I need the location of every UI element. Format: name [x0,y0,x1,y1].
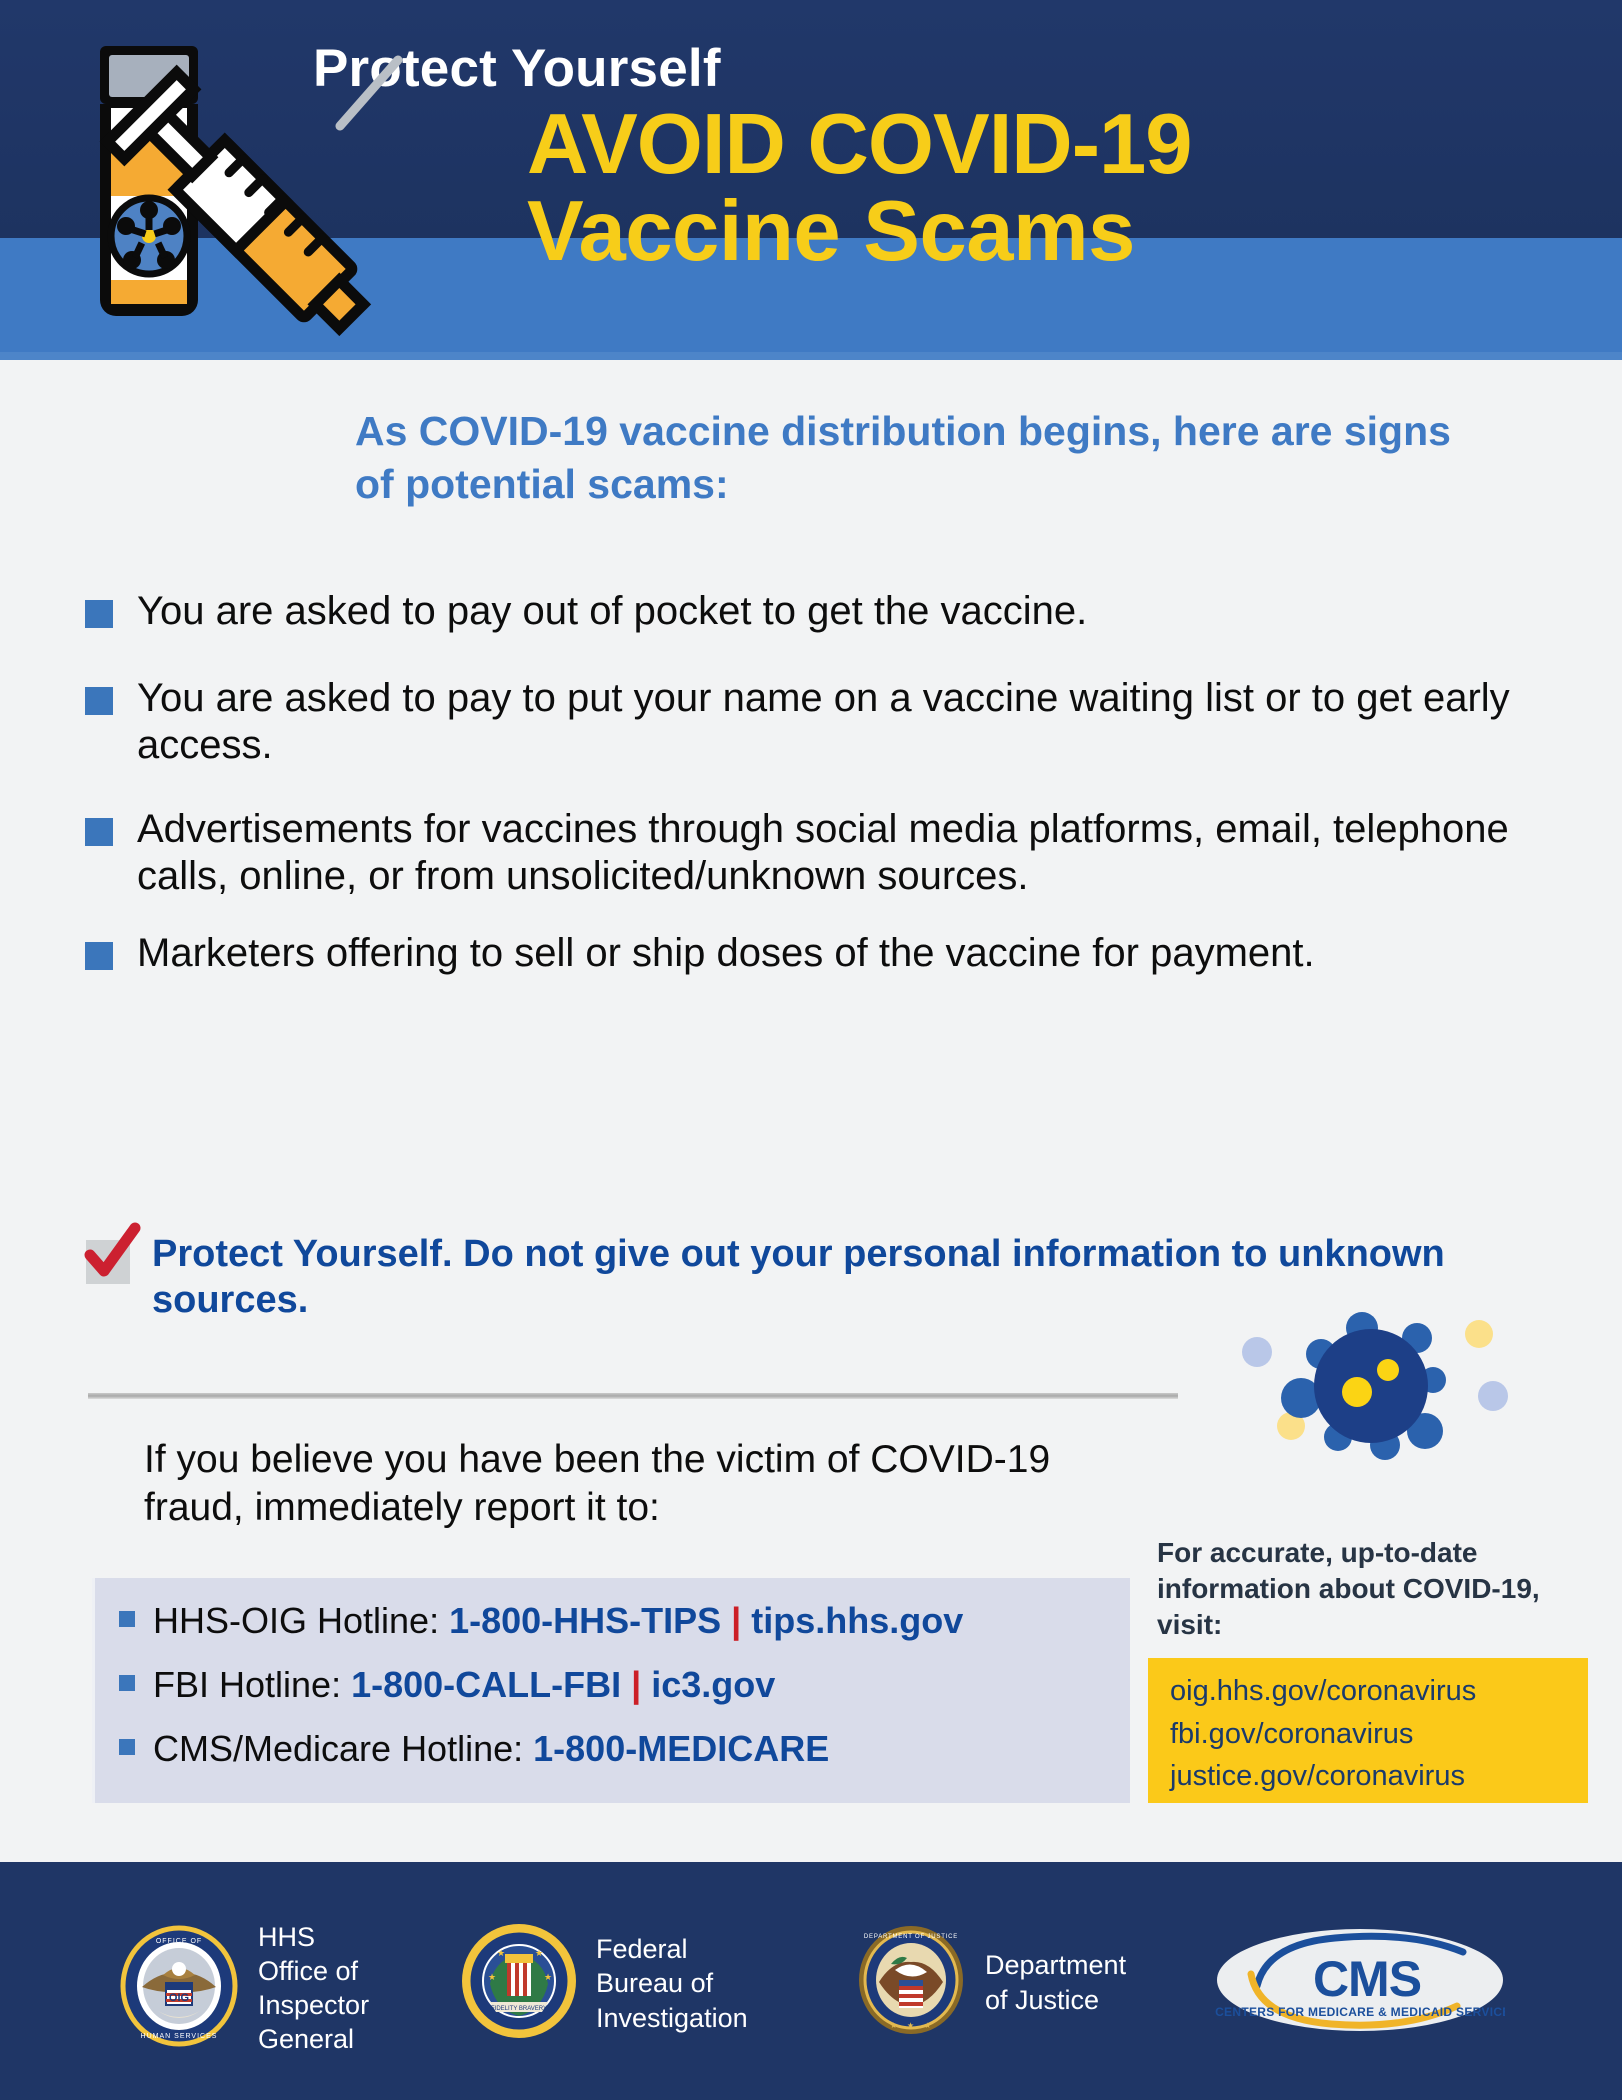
agency-fbi: FIDELITY BRAVERY ★★ ★★ FederalBureau ofI… [460,1922,748,2045]
agency-label: Departmentof Justice [985,1948,1126,2016]
section-divider [88,1393,1178,1399]
hhs-oig-seal-icon: OIG OFFICE OF HUMAN SERVICES [118,1925,240,2052]
svg-text:FIDELITY BRAVERY: FIDELITY BRAVERY [491,2006,547,2012]
square-bullet-icon [85,600,113,628]
hotline-phone[interactable]: 1-800-CALL-FBI [351,1664,621,1705]
fraud-report-text: If you believe you have been the victim … [144,1436,1148,1531]
list-item: You are asked to pay out of pocket to ge… [85,588,1555,635]
exclamation-icon [88,1442,128,1460]
hotline-site[interactable]: tips.hhs.gov [751,1600,963,1641]
resource-url[interactable]: justice.gov/coronavirus [1170,1755,1588,1798]
header-title-line2: Vaccine Scams [527,183,1135,281]
poster-root: Protect Yourself AVOID COVID-19 Vaccine … [0,0,1622,2100]
fbi-seal-icon: FIDELITY BRAVERY ★★ ★★ [460,1922,578,2045]
list-item-text: You are asked to pay to put your name on… [137,675,1555,769]
svg-text:DEPARTMENT OF JUSTICE: DEPARTMENT OF JUSTICE [864,1934,958,1940]
hotline-phone[interactable]: 1-800-MEDICARE [533,1728,829,1769]
list-item: Advertisements for vaccines through soci… [85,806,1555,900]
hotline-separator: | [731,1600,741,1641]
svg-text:★: ★ [924,2021,931,2030]
list-item-text: Marketers offering to sell or ship doses… [137,930,1315,977]
square-bullet-icon [85,818,113,846]
scam-signs-list: You are asked to pay out of pocket to ge… [85,588,1555,1005]
resource-url[interactable]: oig.hhs.gov/coronavirus [1170,1670,1588,1713]
list-item: You are asked to pay to put your name on… [85,675,1555,769]
footer: OIG OFFICE OF HUMAN SERVICES HHSOffice o… [0,1862,1622,2100]
coronavirus-illustration [1225,1300,1515,1500]
vaccine-syringe-illustration [78,38,408,373]
hotline-site[interactable]: ic3.gov [651,1664,775,1705]
hotline-line: CMS/Medicare Hotline: 1-800-MEDICARE [153,1728,829,1770]
svg-text:★: ★ [544,1972,552,1982]
svg-text:HUMAN SERVICES: HUMAN SERVICES [141,2033,218,2040]
svg-text:★: ★ [907,2021,914,2030]
square-bullet-icon [85,942,113,970]
resource-url[interactable]: fbi.gov/coronavirus [1170,1713,1588,1756]
hotline-line: FBI Hotline: 1-800-CALL-FBI | ic3.gov [153,1664,775,1706]
list-item-text: Advertisements for vaccines through soci… [137,806,1555,900]
cms-sublabel: CENTERS FOR MEDICARE & MEDICAID SERVICES [1215,2005,1505,2019]
agency-hhs-oig: OIG OFFICE OF HUMAN SERVICES HHSOffice o… [118,1920,369,2056]
hotline-separator: | [631,1664,641,1705]
svg-text:★: ★ [488,1972,496,1982]
hotline-line: HHS-OIG Hotline: 1-800-HHS-TIPS | tips.h… [153,1600,963,1642]
resource-urls-box: oig.hhs.gov/coronavirus fbi.gov/coronavi… [1148,1658,1588,1803]
checkmark-icon [82,1228,140,1286]
agency-cms: CMS CENTERS FOR MEDICARE & MEDICAID SERV… [1215,1928,1505,2038]
agency-doj: DEPARTMENT OF JUSTICE ★★★ Departmentof J… [855,1924,1126,2041]
svg-text:★: ★ [535,1948,543,1958]
fraud-report-callout: If you believe you have been the victim … [88,1436,1148,1531]
list-item: Marketers offering to sell or ship doses… [85,930,1555,977]
hotline-label: HHS-OIG Hotline: [153,1600,449,1641]
small-square-bullet-icon [119,1739,135,1755]
hotline-row: CMS/Medicare Hotline: 1-800-MEDICARE [119,1728,1130,1770]
hotline-box: HHS-OIG Hotline: 1-800-HHS-TIPS | tips.h… [92,1578,1130,1803]
cms-wordmark: CMS [1313,1951,1421,2007]
header-title-line1: AVOID COVID-19 [527,96,1192,194]
svg-text:OIG: OIG [169,1992,189,2004]
hotline-label: CMS/Medicare Hotline: [153,1728,533,1769]
list-item-text: You are asked to pay out of pocket to ge… [137,588,1087,635]
decorative-dot [1478,1381,1508,1411]
square-bullet-icon [85,687,113,715]
small-square-bullet-icon [119,1611,135,1627]
cms-logo-icon: CMS CENTERS FOR MEDICARE & MEDICAID SERV… [1215,1928,1505,2038]
hotline-row: HHS-OIG Hotline: 1-800-HHS-TIPS | tips.h… [119,1600,1130,1642]
doj-seal-icon: DEPARTMENT OF JUSTICE ★★★ [855,1924,967,2041]
hotline-label: FBI Hotline: [153,1664,351,1705]
agency-label: FederalBureau ofInvestigation [596,1932,748,2034]
svg-text:OFFICE OF: OFFICE OF [156,1938,202,1945]
hotline-phone[interactable]: 1-800-HHS-TIPS [449,1600,721,1641]
small-square-bullet-icon [119,1675,135,1691]
svg-text:★: ★ [890,2021,897,2030]
decorative-dot [1242,1337,1272,1367]
hotline-row: FBI Hotline: 1-800-CALL-FBI | ic3.gov [119,1664,1130,1706]
decorative-dot [1465,1320,1493,1348]
svg-text:★: ★ [497,1948,505,1958]
accurate-info-text: For accurate, up-to-date information abo… [1157,1535,1577,1642]
intro-text: As COVID-19 vaccine distribution begins,… [355,405,1495,512]
agency-label: HHSOffice ofInspectorGeneral [258,1920,369,2056]
